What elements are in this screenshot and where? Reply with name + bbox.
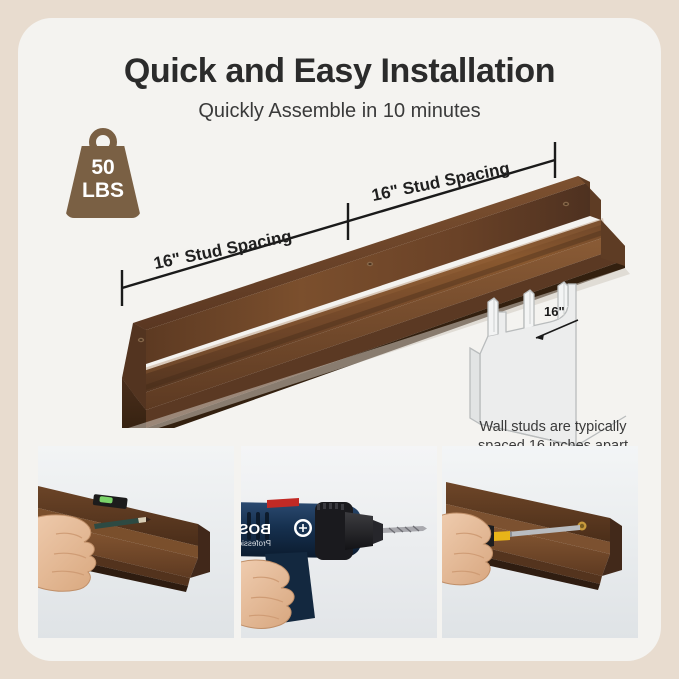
installation-step-photos: BOSCH Professional xyxy=(38,446,641,638)
weight-unit: LBS xyxy=(65,179,141,202)
page-title: Quick and Easy Installation xyxy=(18,52,661,91)
stud-caption-line-1: Wall studs are typically xyxy=(443,418,661,437)
step-photo-fasten-screws[interactable] xyxy=(442,446,638,638)
drill-brand-label: BOSCH xyxy=(241,521,271,538)
weight-badge-text: 50 LBS xyxy=(65,156,141,202)
page-background: Quick and Easy Installation Quickly Asse… xyxy=(0,0,679,679)
page-subtitle: Quickly Assemble in 10 minutes xyxy=(18,100,661,123)
weight-value: 50 xyxy=(65,156,141,179)
drill-brand-subtitle: Professional xyxy=(241,539,271,548)
step-photo-drill-pilot-holes[interactable]: BOSCH Professional xyxy=(241,446,437,638)
step-photo-mark-wall-with-level[interactable] xyxy=(38,446,234,638)
infographic-card: Quick and Easy Installation Quickly Asse… xyxy=(18,18,661,661)
stud-measure-label: 16" xyxy=(544,304,565,319)
